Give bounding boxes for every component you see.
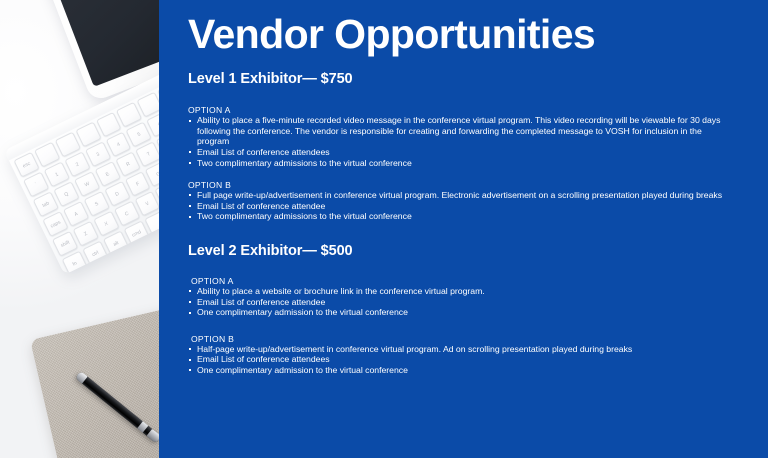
page-title: Vendor Opportunities	[188, 14, 595, 55]
level-heading: Level 2 Exhibitor— $500	[188, 242, 724, 260]
list-item: Email List of conference attendee	[188, 297, 724, 308]
content-body: Level 1 Exhibitor— $750 OPTION A Ability…	[188, 70, 724, 376]
keyboard-key: T	[136, 141, 159, 167]
option-label: OPTION B	[188, 334, 724, 344]
list-item: Full page write-up/advertisement in conf…	[188, 190, 724, 201]
option-bullet-list: Half-page write-up/advertisement in conf…	[188, 344, 724, 376]
list-item: Ability to place a website or brochure l…	[188, 286, 724, 297]
level-section-1: Level 1 Exhibitor— $750 OPTION A Ability…	[188, 70, 724, 222]
list-item: Email List of conference attendees	[188, 354, 724, 365]
list-item: Half-page write-up/advertisement in conf…	[188, 344, 724, 355]
list-item: Email List of conference attendees	[188, 147, 724, 158]
list-item: Two complimentary admissions to the virt…	[188, 211, 724, 222]
content-panel: Vendor Opportunities Level 1 Exhibitor— …	[159, 0, 768, 458]
level-heading: Level 1 Exhibitor— $750	[188, 70, 724, 88]
option-label: OPTION A	[188, 105, 724, 115]
decorative-photo-panel: esc`12345678tabQWERTYUIcapsASDFGHJKshift…	[0, 0, 159, 458]
list-item: Ability to place a five-minute recorded …	[188, 115, 724, 147]
option-bullet-list: Ability to place a website or brochure l…	[188, 286, 724, 318]
list-item: Two complimentary admissions to the virt…	[188, 158, 724, 169]
level-section-2: Level 2 Exhibitor— $500 OPTION A Ability…	[188, 242, 724, 376]
slide-root: esc`12345678tabQWERTYUIcapsASDFGHJKshift…	[0, 0, 768, 458]
list-item: Email List of conference attendee	[188, 201, 724, 212]
option-label: OPTION B	[188, 180, 724, 190]
list-item: One complimentary admission to the virtu…	[188, 307, 724, 318]
option-label: OPTION A	[188, 276, 724, 286]
option-bullet-list: Ability to place a five-minute recorded …	[188, 115, 724, 168]
list-item: One complimentary admission to the virtu…	[188, 365, 724, 376]
option-bullet-list: Full page write-up/advertisement in conf…	[188, 190, 724, 222]
